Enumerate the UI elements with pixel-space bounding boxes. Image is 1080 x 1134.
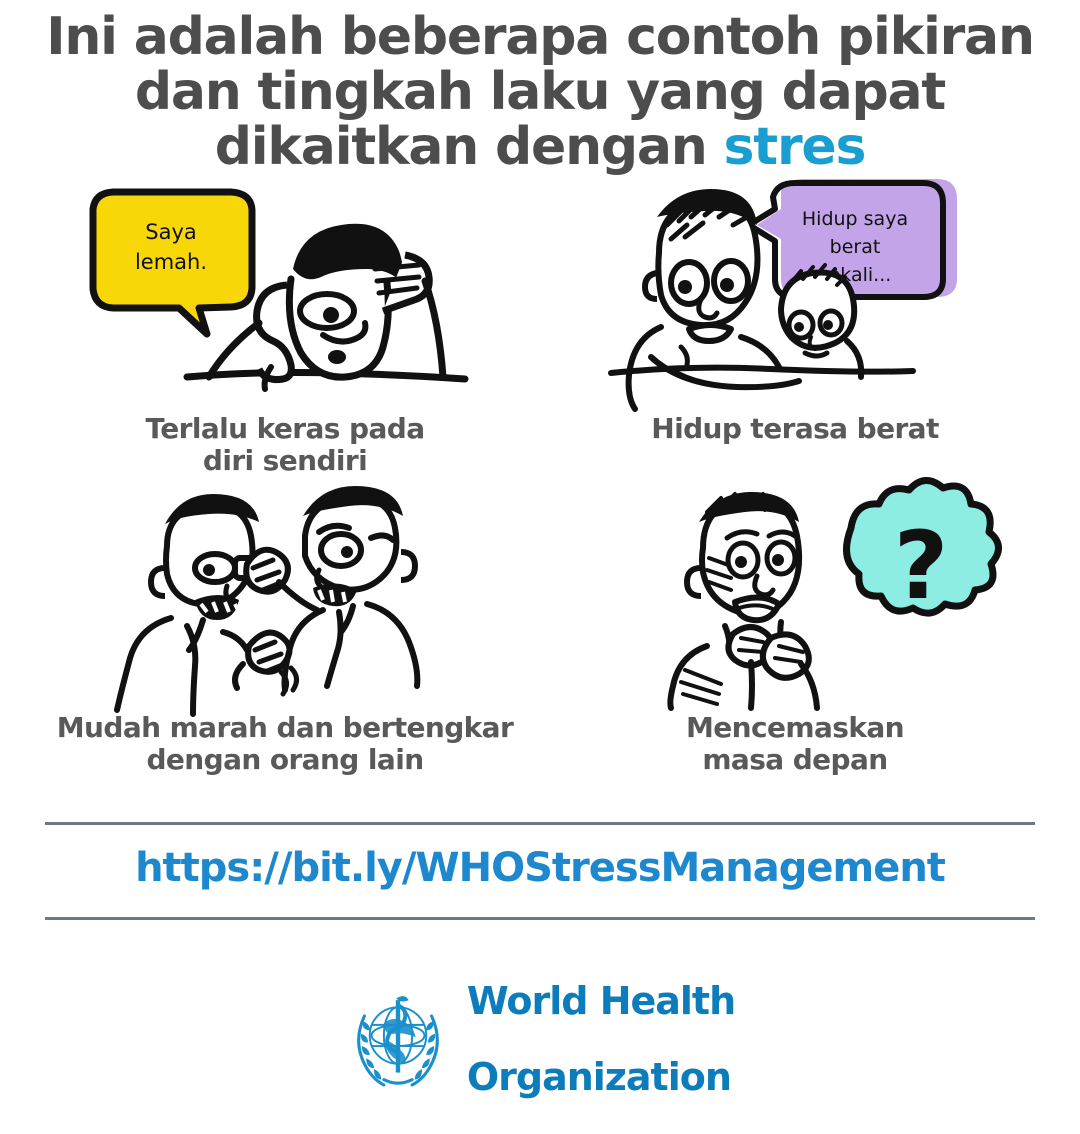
panel-too-hard-on-yourself: Saya lemah. xyxy=(30,177,540,476)
panel-caption: Mudah marah dan bertengkar dengan orang … xyxy=(57,712,513,775)
divider-bottom xyxy=(45,917,1035,920)
illustration-svg: Saya lemah. xyxy=(75,177,495,409)
illustration-man-holding-baby: Hidup saya berat sekali... xyxy=(540,177,1050,409)
panel-caption: Terlalu keras pada diri sendiri xyxy=(145,413,424,476)
speech-bubble-purple: Hidup saya berat sekali... xyxy=(749,179,957,297)
page-title-line-3-text: dikaitkan dengan xyxy=(215,117,724,177)
illustration-grid: Saya lemah. xyxy=(0,175,1080,775)
bubble-line-1: Hidup saya xyxy=(802,208,908,230)
resource-link[interactable]: https://bit.ly/WHOStressManagement xyxy=(0,845,1080,891)
panel-worrying-about-future: ? xyxy=(540,476,1050,775)
divider-top xyxy=(45,822,1035,825)
who-emblem-icon xyxy=(345,986,451,1092)
page-title-line-1: Ini adalah beberapa contoh pikiran xyxy=(18,10,1062,65)
panel-life-feels-heavy: Hidup saya berat sekali... xyxy=(540,177,1050,476)
who-logo: World Health Organization xyxy=(0,944,1080,1134)
illustration-svg xyxy=(75,476,495,708)
who-logo-line-1: World Health xyxy=(467,982,735,1020)
page-title-line-2: dan tingkah laku yang dapat xyxy=(18,65,1062,120)
illustration-man-head-in-hands: Saya lemah. xyxy=(30,177,540,409)
panel-angry-and-arguing: Mudah marah dan bertengkar dengan orang … xyxy=(30,476,540,775)
bubble-line-2: lemah. xyxy=(135,250,207,274)
bubble-line-2: berat xyxy=(830,236,881,258)
panel-caption: Hidup terasa berat xyxy=(651,413,939,444)
illustration-svg: ? xyxy=(585,476,1005,708)
page-title-line-3: dikaitkan dengan stres xyxy=(18,120,1062,175)
page-title: Ini adalah beberapa contoh pikiran dan t… xyxy=(0,0,1080,175)
page-title-accent-word: stres xyxy=(724,117,866,177)
who-logo-text: World Health Organization xyxy=(467,944,735,1134)
illustration-two-people-arguing xyxy=(30,476,540,708)
bubble-line-1: Saya xyxy=(145,220,197,244)
illustration-worried-person: ? xyxy=(540,476,1050,708)
speech-bubble-yellow: Saya lemah. xyxy=(93,192,252,334)
question-mark-glyph: ? xyxy=(894,512,949,621)
illustration-svg: Hidup saya berat sekali... xyxy=(585,177,1005,409)
thought-bubble-question: ? xyxy=(847,481,999,622)
who-logo-line-2: Organization xyxy=(467,1058,735,1096)
panel-caption: Mencemaskan masa depan xyxy=(686,712,904,775)
